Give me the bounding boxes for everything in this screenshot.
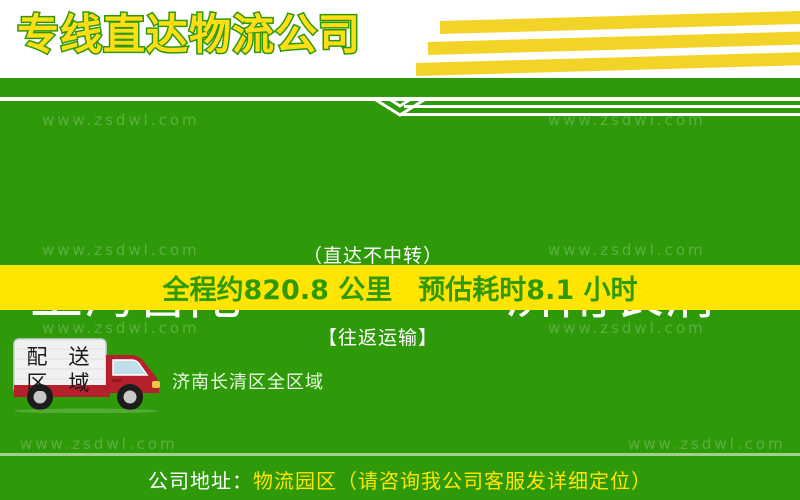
- duration-text: 预估耗时8.1 小时: [418, 268, 637, 307]
- watermark: www.zsdwl.com: [628, 435, 786, 453]
- watermark: www.zsdwl.com: [20, 435, 178, 453]
- decorative-stripe-2: [428, 30, 800, 54]
- roundtrip-note: 【往返运输】: [318, 323, 438, 350]
- address-value: 物流园区（请咨询我公司客服发详细定位）: [253, 465, 652, 494]
- direct-route-note: （直达不中转）: [303, 241, 443, 268]
- truck-label-char-1: 配: [16, 344, 58, 370]
- company-slogan: 专线直达物流公司: [17, 7, 361, 63]
- watermark: www.zsdwl.com: [548, 241, 706, 259]
- route-stats: 全程约820.8 公里 预估耗时8.1 小时: [0, 265, 800, 310]
- watermark: www.zsdwl.com: [548, 111, 706, 129]
- watermark: www.zsdwl.com: [42, 111, 200, 129]
- header-zone: 专线直达物流公司: [0, 0, 800, 78]
- address-label: 公司地址：: [148, 465, 253, 494]
- decorative-stripe-1: [440, 10, 800, 34]
- truck-cargo-label: 配 送 区 域: [16, 344, 100, 396]
- watermark: www.zsdwl.com: [42, 241, 200, 259]
- main-green-panel: www.zsdwl.com www.zsdwl.com www.zsdwl.co…: [0, 101, 800, 500]
- truck-label-char-3: 区: [16, 370, 58, 396]
- footer-divider: [0, 453, 800, 456]
- delivery-area-text: 济南长清区全区域: [172, 368, 324, 394]
- company-address: 公司地址： 物流园区（请咨询我公司客服发详细定位）: [0, 459, 800, 500]
- truck-label-char-2: 送: [58, 344, 100, 370]
- header-green-bar: [0, 78, 800, 97]
- truck-label-char-4: 域: [58, 370, 100, 396]
- logistics-route-banner: 专线直达物流公司 www.zsdwl.com www.zsdwl.com www…: [0, 0, 800, 500]
- distance-text: 全程约820.8 公里: [162, 268, 392, 307]
- decorative-line-1: [404, 105, 800, 108]
- decorative-stripe-3: [416, 51, 800, 76]
